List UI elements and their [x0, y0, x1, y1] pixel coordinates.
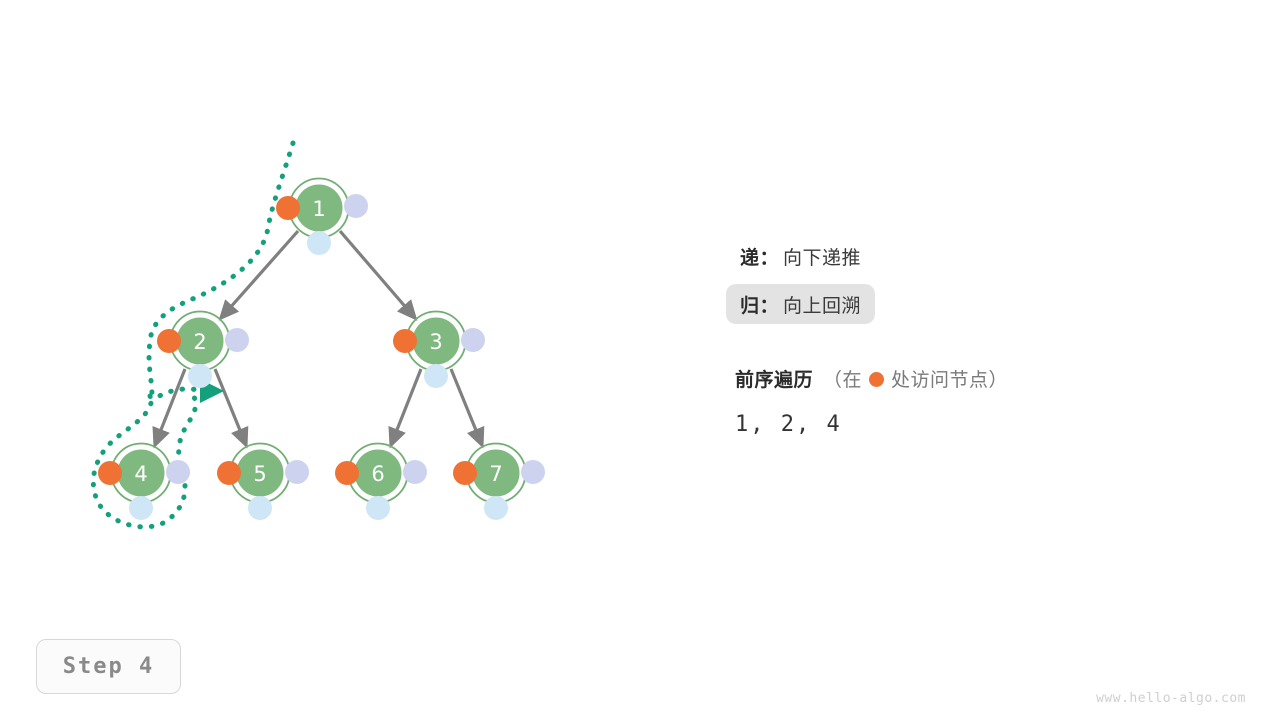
tree-node-1[interactable]: 1: [276, 179, 368, 256]
right-dot-icon: [403, 460, 427, 484]
tree-node-7[interactable]: 7: [453, 444, 545, 521]
visit-dot-icon: [335, 461, 359, 485]
legend-key-descend: 递：: [740, 243, 779, 270]
node-label: 1: [312, 197, 325, 221]
traversal-note-prefix: （在: [823, 369, 862, 391]
node-label: 7: [489, 462, 502, 486]
right-dot-icon: [521, 460, 545, 484]
legend-row-backtrack: 归： 向上回溯: [726, 284, 875, 324]
edge-2-4: [155, 369, 185, 445]
watermark: www.hello-algo.com: [1096, 691, 1246, 706]
right-dot-icon: [166, 460, 190, 484]
visit-dot-icon: [276, 196, 300, 220]
visit-dot-icon: [217, 461, 241, 485]
tree-node-6[interactable]: 6: [335, 444, 427, 521]
visit-dot-icon: [98, 461, 122, 485]
node-label: 4: [134, 462, 147, 486]
edge-1-3: [340, 231, 415, 318]
visit-dot-icon: [869, 372, 884, 387]
traversal-note-suffix: 处访问节点）: [891, 369, 1008, 391]
bottom-dot-icon: [366, 496, 390, 520]
traversal-order-heading: 前序遍历 （在处访问节点）: [735, 360, 1205, 396]
node-label: 2: [193, 330, 206, 354]
bottom-dot-icon: [129, 496, 153, 520]
visit-dot-icon: [393, 329, 417, 353]
legend-panel: 递： 向下递推 归： 向上回溯: [726, 236, 1186, 332]
tree-node-2[interactable]: 2: [157, 312, 249, 389]
bottom-dot-icon: [248, 496, 272, 520]
bottom-dot-icon: [188, 364, 212, 388]
step-badge-label: Step 4: [63, 654, 154, 679]
bottom-dot-icon: [307, 231, 331, 255]
right-dot-icon: [461, 328, 485, 352]
tree-node-5[interactable]: 5: [217, 444, 309, 521]
legend-value-backtrack: 向上回溯: [783, 291, 861, 318]
node-label: 3: [429, 330, 442, 354]
edge-3-6: [391, 369, 421, 445]
right-dot-icon: [285, 460, 309, 484]
visit-dot-icon: [453, 461, 477, 485]
tree-node-3[interactable]: 3: [393, 312, 485, 389]
node-label: 5: [253, 462, 266, 486]
tree-nodes: 1 2 3 4: [98, 179, 545, 521]
tree-node-4[interactable]: 4: [98, 444, 190, 521]
legend-row-descend: 递： 向下递推: [726, 236, 875, 276]
legend-value-descend: 向下递推: [783, 243, 861, 270]
bottom-dot-icon: [484, 496, 508, 520]
edge-2-5: [215, 369, 246, 445]
traversal-sequence: 1, 2, 4: [735, 412, 1205, 437]
bottom-dot-icon: [424, 364, 448, 388]
step-badge: Step 4: [36, 639, 181, 694]
right-dot-icon: [225, 328, 249, 352]
edge-3-7: [451, 369, 482, 445]
right-dot-icon: [344, 194, 368, 218]
visit-dot-icon: [157, 329, 181, 353]
traversal-order-title: 前序遍历: [735, 365, 813, 392]
node-label: 6: [371, 462, 384, 486]
legend-key-backtrack: 归：: [740, 291, 779, 318]
traversal-order-note: （在处访问节点）: [823, 365, 1008, 392]
traversal-order-panel: 前序遍历 （在处访问节点） 1, 2, 4: [735, 360, 1205, 437]
